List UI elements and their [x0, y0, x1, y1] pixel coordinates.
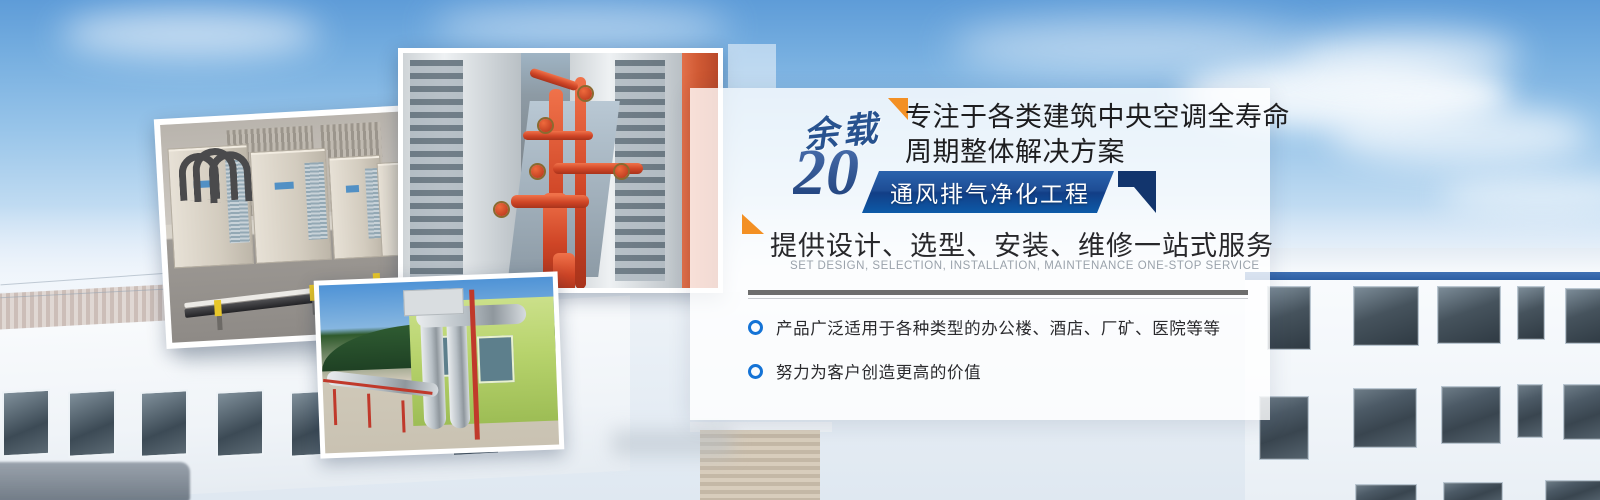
- unit-grill: [304, 162, 328, 240]
- duct-support: [367, 394, 371, 428]
- cloud-shape: [60, 10, 320, 58]
- chiller-bank-left: [403, 53, 521, 288]
- gate-valve: [531, 165, 544, 178]
- headline-line-1: 专注于各类建筑中央空调全寿命: [905, 100, 1267, 135]
- building-window: [68, 389, 116, 458]
- divider-thin: [748, 298, 1248, 299]
- building-window: [1517, 286, 1545, 340]
- cloud-shape: [430, 6, 730, 48]
- parked-cars: [0, 462, 190, 500]
- subheadline: 提供设计、选型、安装、维修一站式服务: [770, 224, 1260, 263]
- building-window: [1517, 384, 1543, 438]
- headline: 专注于各类建筑中央空调全寿命 周期整体解决方案: [905, 100, 1267, 169]
- english-subtitle: SET DESIGN, SELECTION, INSTALLATION, MAI…: [790, 260, 1220, 272]
- building-window: [1443, 482, 1503, 500]
- building-window: [1353, 388, 1417, 448]
- building-window: [2, 389, 50, 458]
- circle-bullet-icon: [748, 320, 763, 335]
- building-window: [140, 389, 188, 458]
- building-window: [1267, 286, 1311, 350]
- duct-support: [401, 400, 405, 432]
- building-window: [1353, 286, 1419, 346]
- unit-label: [275, 181, 295, 189]
- service-ribbon-banner: 通风排气净化工程: [862, 171, 1114, 213]
- bullet-text: 产品广泛适用于各种类型的办公楼、酒店、厂矿、医院等等: [776, 315, 1221, 339]
- cloud-shape: [1290, 30, 1520, 82]
- blur-accent: [612, 430, 732, 456]
- decorative-square: [728, 44, 776, 88]
- building-roof-trim: [1245, 272, 1600, 280]
- list-item: 产品广泛适用于各种类型的办公楼、酒店、厂矿、医院等等: [748, 315, 1268, 339]
- duct-support: [333, 389, 337, 425]
- refrigerant-hose: [208, 150, 253, 203]
- years-logo-number: 20: [793, 142, 859, 205]
- pipe-marker-tag: [214, 300, 222, 316]
- gate-valve: [615, 165, 628, 178]
- building-window: [1565, 288, 1600, 344]
- ribbon-label: 通风排气净化工程: [890, 175, 1090, 209]
- photo-image: [319, 277, 559, 454]
- building-parapet: [1245, 248, 1600, 272]
- photo-image: [403, 53, 718, 288]
- cloud-shape: [1330, 105, 1590, 165]
- photo-card-rooftop-ductwork: [314, 271, 565, 458]
- hvac-unit: [250, 148, 332, 264]
- factory-building-right: [1245, 248, 1600, 500]
- red-pipe-branch: [511, 195, 589, 208]
- building-window: [477, 336, 515, 384]
- rooftop-fan-unit: [403, 288, 464, 316]
- building-window: [1355, 484, 1417, 500]
- bullet-list: 产品广泛适用于各种类型的办公楼、酒店、厂矿、医院等等 努力为客户创造更高的价值: [748, 315, 1268, 403]
- building-window: [1441, 386, 1501, 444]
- red-pipe-branch: [553, 163, 643, 174]
- headline-line-2: 周期整体解决方案: [905, 135, 1267, 170]
- building-window: [216, 389, 264, 458]
- bullet-text: 努力为客户创造更高的价值: [776, 359, 981, 383]
- list-item: 努力为客户创造更高的价值: [748, 359, 1268, 383]
- divider-thick: [748, 290, 1248, 295]
- hvac-promo-banner: 余载 20 专注于各类建筑中央空调全寿命 周期整体解决方案 通风排气净化工程 提…: [0, 0, 1600, 500]
- circle-bullet-icon: [748, 364, 763, 379]
- unit-label: [346, 185, 359, 193]
- red-pipe-branch: [523, 131, 593, 140]
- photo-card-chilled-water-piping: [398, 48, 723, 293]
- gate-valve: [495, 203, 508, 216]
- building-window: [1545, 480, 1600, 500]
- gate-valve: [579, 87, 592, 100]
- building-window: [1437, 286, 1501, 344]
- chevron-accent-icon: [742, 214, 764, 234]
- gate-valve: [539, 119, 552, 132]
- cloud-shape: [950, 18, 1310, 76]
- building-window: [1563, 384, 1600, 440]
- red-pipe-vertical: [575, 77, 586, 288]
- condenser-fins: [410, 60, 463, 281]
